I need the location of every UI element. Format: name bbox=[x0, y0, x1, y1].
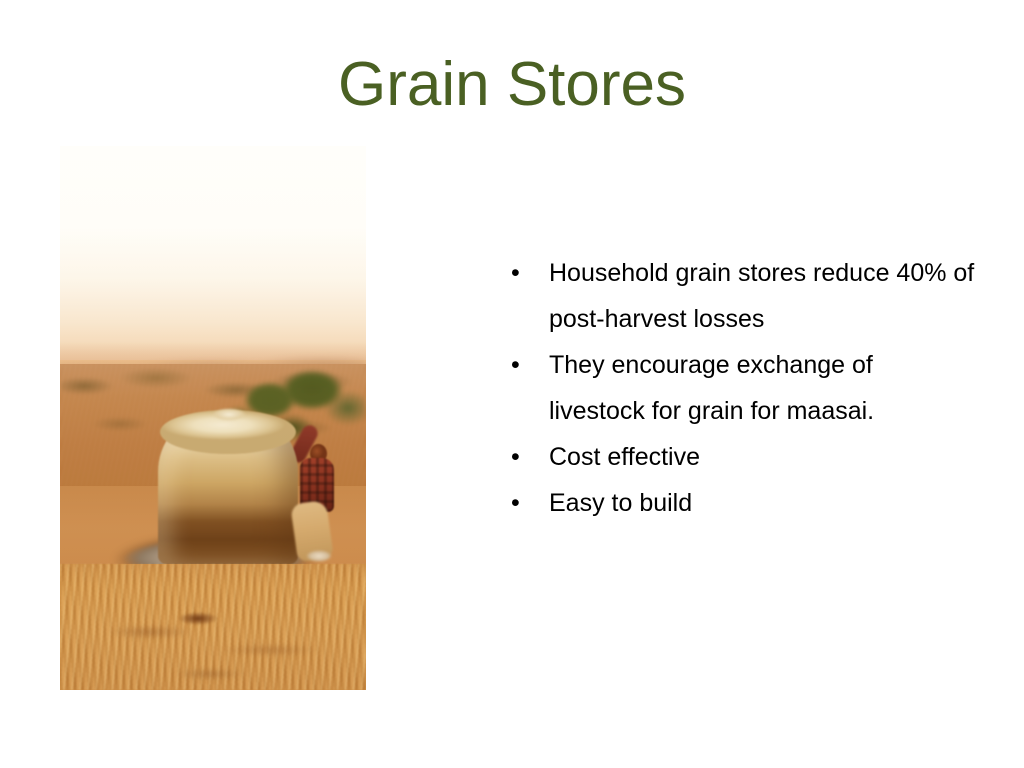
list-item: • Cost effective bbox=[505, 434, 975, 480]
page-title: Grain Stores bbox=[0, 52, 1024, 117]
grain-store-lid-knob bbox=[212, 408, 246, 421]
presentation-slide: Grain Stores • Household grain stores re… bbox=[0, 0, 1024, 768]
bullet-marker-icon: • bbox=[511, 434, 525, 480]
grass-shading bbox=[60, 616, 366, 690]
grain-store-photo bbox=[60, 146, 366, 690]
list-item: • Household grain stores reduce 40% of p… bbox=[505, 250, 975, 342]
bullet-list: • Household grain stores reduce 40% of p… bbox=[505, 250, 975, 526]
person-foot bbox=[306, 550, 332, 562]
list-item-label: Household grain stores reduce 40% of pos… bbox=[549, 250, 975, 342]
bullet-marker-icon: • bbox=[511, 342, 525, 388]
list-item: • Easy to build bbox=[505, 480, 975, 526]
sky-region bbox=[60, 146, 366, 360]
list-item-label: Cost effective bbox=[549, 434, 975, 480]
list-item-label: Easy to build bbox=[549, 480, 975, 526]
list-item: • They encourage exchange of livestock f… bbox=[505, 342, 975, 434]
bullet-marker-icon: • bbox=[511, 480, 525, 526]
list-item-label: They encourage exchange of livestock for… bbox=[549, 342, 975, 434]
bullet-marker-icon: • bbox=[511, 250, 525, 296]
